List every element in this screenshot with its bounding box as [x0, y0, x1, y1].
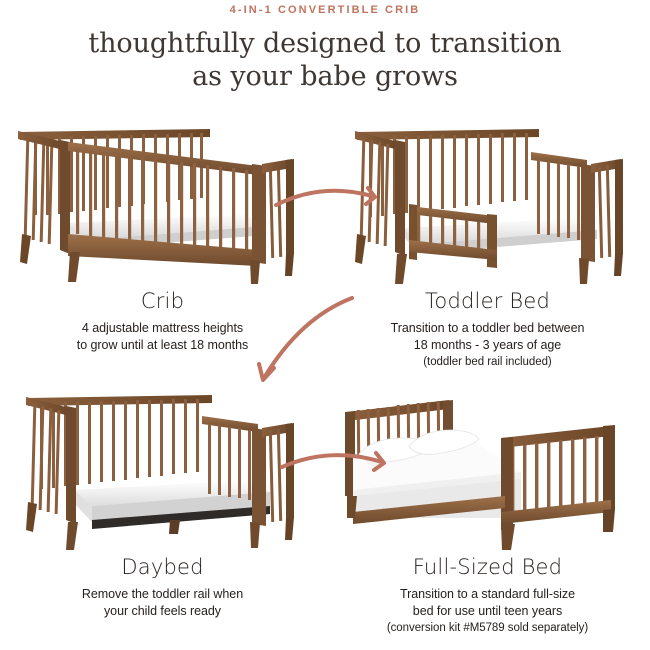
stage-panel-full-sized-bed: Full-Sized Bed Transition to a standard … — [325, 384, 650, 650]
stage-description-line: bed for use until teen years — [325, 603, 650, 620]
stage-title: Toddler Bed — [325, 288, 650, 314]
full-sized-bed-illustration — [325, 384, 650, 556]
stage-grid: Crib 4 adjustable mattress heights to gr… — [0, 118, 650, 650]
page-title-line-2: as your babe grows — [0, 60, 650, 93]
stage-description-line: to grow until at least 18 months — [0, 337, 325, 354]
page-title-line-1: thoughtfully designed to transition — [0, 27, 650, 60]
stage-description-line: Transition to a standard full-size — [325, 586, 650, 603]
stage-description-line: Transition to a toddler bed between — [325, 320, 650, 337]
stage-description-line: Remove the toddler rail when — [0, 586, 325, 603]
stage-description: 4 adjustable mattress heights to grow un… — [0, 320, 325, 354]
stage-description: Remove the toddler rail when your child … — [0, 586, 325, 620]
stage-caption-crib: Crib 4 adjustable mattress heights to gr… — [0, 288, 325, 354]
stage-caption-daybed: Daybed Remove the toddler rail when your… — [0, 554, 325, 620]
stage-panel-daybed: Daybed Remove the toddler rail when your… — [0, 384, 325, 650]
stage-description-line: 4 adjustable mattress heights — [0, 320, 325, 337]
stage-description-line: 18 months - 3 years of age — [325, 337, 650, 354]
stage-title: Crib — [0, 288, 325, 314]
page-title: thoughtfully designed to transition as y… — [0, 27, 650, 93]
crib-illustration — [0, 118, 325, 290]
stage-description-note: (conversion kit #M5789 sold separately) — [325, 620, 650, 637]
eyebrow-label: 4-IN-1 CONVERTIBLE CRIB — [0, 0, 650, 17]
stage-description-note: (toddler bed rail included) — [325, 354, 650, 371]
stage-caption-toddler-bed: Toddler Bed Transition to a toddler bed … — [325, 288, 650, 371]
stage-description: Transition to a toddler bed between 18 m… — [325, 320, 650, 371]
stage-panel-crib: Crib 4 adjustable mattress heights to gr… — [0, 118, 325, 384]
stage-caption-full-sized-bed: Full-Sized Bed Transition to a standard … — [325, 554, 650, 637]
stage-title: Full-Sized Bed — [325, 554, 650, 580]
stage-panel-toddler-bed: Toddler Bed Transition to a toddler bed … — [325, 118, 650, 384]
stage-description-line: your child feels ready — [0, 603, 325, 620]
stage-title: Daybed — [0, 554, 325, 580]
stage-description: Transition to a standard full-size bed f… — [325, 586, 650, 637]
toddler-bed-illustration — [325, 118, 650, 290]
daybed-illustration — [0, 384, 325, 556]
